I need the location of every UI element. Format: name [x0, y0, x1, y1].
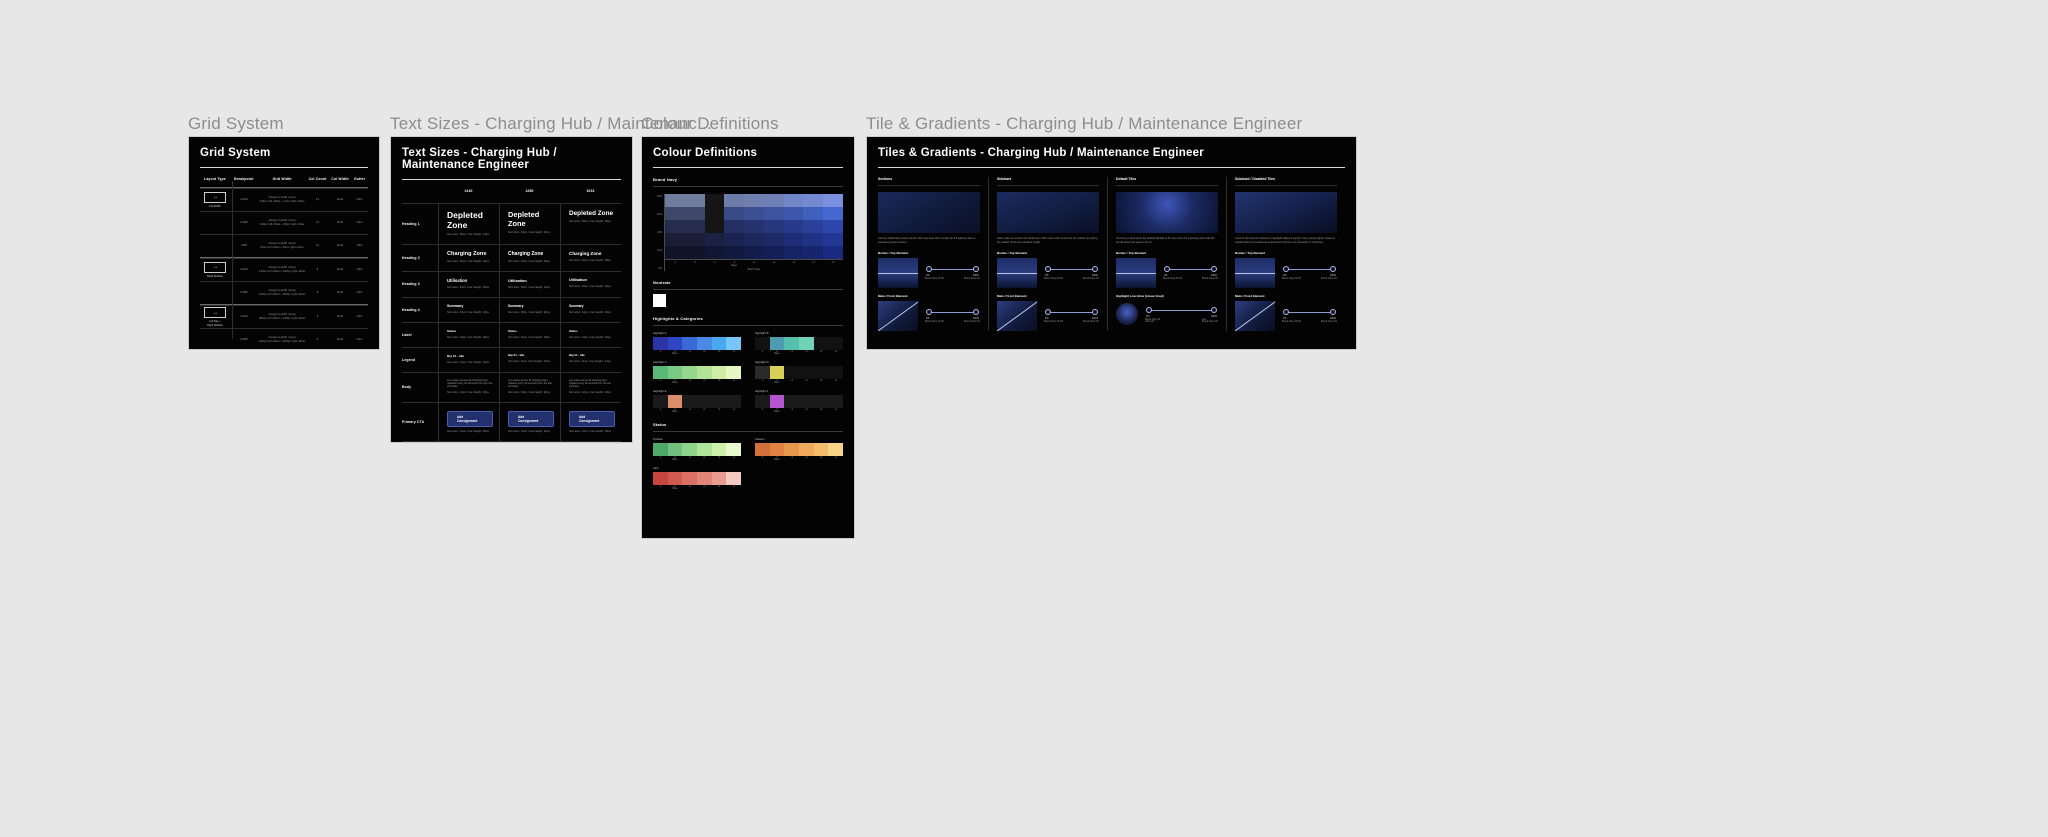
ramp-tick: +1	[682, 351, 697, 355]
y-tick-label: 60%	[657, 213, 662, 216]
text-sample-cell: Depleted Zonefont-size: 34px, line-heigh…	[499, 204, 560, 244]
design-board-canvas: Grid System Grid System Layout TypeBreak…	[0, 0, 2048, 837]
slider-knob-right[interactable]	[1211, 266, 1217, 272]
ramp-ticks: -10Base+1+2+3+4	[653, 351, 741, 355]
grid-col-header: Col Count	[306, 177, 328, 182]
slider-knob-right[interactable]	[973, 266, 979, 272]
ramp-stop	[828, 337, 843, 350]
table-row: ≥1280Viewport width minus120px left offs…	[200, 281, 368, 304]
gradient-row: 0%100%Brand Navy 40 0%Brand Navy 0%	[997, 301, 1099, 331]
text-size-col-header: 1024	[560, 189, 621, 198]
gutter-cell: 20px	[351, 221, 368, 225]
y-tick-label: 20%	[657, 249, 662, 252]
col-width-cell: Fluid	[329, 198, 351, 202]
slider-track[interactable]	[1167, 269, 1214, 271]
title-divider	[878, 167, 1345, 168]
highlight-column-left: Highlight A-10Base+1+2+3+4Highlight C-10…	[653, 326, 741, 413]
text-sample-cell: Bay 04 – Idlefont-size: 11px, line-heigh…	[560, 348, 621, 372]
slider-left-percent: 0%	[1283, 274, 1286, 277]
gradient-swatch	[1116, 258, 1156, 288]
ramp-stop	[799, 366, 814, 379]
ramp-stop	[799, 395, 814, 408]
text-sample: Charging Zone	[569, 251, 615, 256]
slider-track[interactable]	[1048, 312, 1095, 314]
slider-track[interactable]	[1149, 310, 1214, 312]
text-size-col-header	[402, 189, 438, 198]
matrix-cell	[823, 194, 843, 207]
grid-width-cell: Viewport width minus280px left offset + …	[258, 313, 307, 321]
gradient-slider[interactable]: 0%100%Brand Navy 40 0%Brand Navy 0%	[1044, 306, 1099, 326]
ramp-tick: +2	[799, 409, 814, 413]
ramp-name: Highlight F	[755, 389, 843, 393]
ramp-tick: +3	[814, 409, 829, 413]
ramp-tick: +4	[726, 351, 741, 355]
slider-right-stop-name: Brand Navy 0%	[1321, 278, 1337, 280]
matrix-cell	[803, 194, 823, 207]
ramp-block: Highlight B-10Base+1+2+3+4	[755, 331, 843, 355]
ramp-stop	[726, 472, 741, 485]
slider-left-stop-name: Brand Navy 60 0%	[1163, 278, 1182, 280]
ramp-stop	[726, 366, 741, 379]
slider-knob-left[interactable]	[1164, 266, 1170, 272]
slider-track[interactable]	[929, 269, 976, 271]
ramp-stop	[814, 443, 829, 456]
x-tick-label: -2	[705, 261, 725, 267]
matrix-cell	[744, 246, 764, 259]
ramp-tick: +3	[712, 409, 727, 413]
colour-ramp	[653, 366, 741, 379]
ramp-stop	[828, 366, 843, 379]
slider-right-percent: 100%	[1211, 315, 1217, 318]
text-sample: Live status across all charging bays, up…	[447, 379, 493, 388]
ramp-tick: +4	[828, 409, 843, 413]
ramp-stop	[784, 366, 799, 379]
ramp-block: Highlight D-10Base+1+2+3+4	[755, 360, 843, 384]
ramp-tick: -1	[755, 380, 770, 384]
section-divider	[653, 186, 843, 187]
tile-description: Common or all-purpose tile. Radial highl…	[1116, 237, 1218, 245]
ramp-stop	[682, 337, 697, 350]
text-sample: Summary	[569, 304, 615, 308]
ramp-block: Highlight A-10Base+1+2+3+4	[653, 331, 741, 355]
radial-slider[interactable]: 0%100%Brand Navy 60100 LightLowBrand Nav…	[1145, 304, 1218, 324]
ramp-stop	[668, 472, 683, 485]
matrix-cell	[764, 194, 784, 207]
ramp-stop	[755, 443, 770, 456]
text-sample-cell: Add Consignmentfont-size: 14px, line-hei…	[438, 403, 499, 441]
ramp-tick: +2	[697, 409, 712, 413]
gradient-axis-line	[997, 301, 1037, 331]
primary-cta-button[interactable]: Add Consignment	[569, 411, 615, 427]
text-sample: Live status across all charging bays, up…	[569, 379, 615, 388]
col-count-cell: 8	[306, 291, 328, 295]
tile-description: Same value as sections but darkened to f…	[997, 237, 1099, 245]
breakpoint-cell: ≥1440	[230, 198, 258, 202]
text-sample-spec: font-size: 14px, line-height: 20px	[569, 311, 615, 315]
table-row: ↔Right Sidebar≥1440Viewport width minus1…	[200, 258, 368, 281]
matrix-cell	[665, 207, 685, 220]
tile-column-heading: Subdued / Disabled Tiles	[1235, 177, 1337, 186]
section-divider	[653, 289, 843, 290]
slider-knob-left[interactable]	[1045, 309, 1051, 315]
colour-ramp	[755, 395, 843, 408]
ramp-stop	[712, 472, 727, 485]
arrows-horizontal-icon: ↔	[204, 307, 226, 318]
ramp-tick: +2	[697, 486, 712, 490]
brand-navy-matrix: 80%60%40%20%0%-4-3-2-1Base+1+2+3+4+5Bran…	[653, 194, 843, 271]
text-sample-spec: font-size: 12px, line-height: 18px	[569, 391, 615, 395]
colour-section: Highlights & CategoriesHighlight A-10Bas…	[653, 316, 843, 413]
text-sample-spec: font-size: 30px, line-height: 36px	[569, 220, 615, 224]
text-sample: Bay 04 – Idle	[508, 354, 554, 357]
gradient-label: Border / Top Element	[1235, 251, 1337, 255]
slider-right-stop-name: Brand Navy 0%	[1083, 278, 1099, 280]
ramp-tick: +1	[784, 351, 799, 355]
text-sample-cell: Utilisationfont-size: 16px, line-height:…	[560, 272, 621, 297]
slider-left-stop-name: Brand Navy 40 0%	[1282, 321, 1301, 323]
ramp-block: Positive-10Base+1+2+3+4	[653, 437, 741, 461]
slider-knob-left[interactable]	[1045, 266, 1051, 272]
ramp-block: Highlight E-10Base+1+2+3+4	[653, 389, 741, 413]
colour-ramp	[755, 337, 843, 350]
grid-col-header: Gutter	[351, 177, 368, 182]
text-sample-cell: Utilisationfont-size: 18px, line-height:…	[499, 272, 560, 297]
text-sample: Summary	[508, 304, 554, 308]
ramp-tick: +3	[712, 486, 727, 490]
slider-right-percent: 100%	[1211, 274, 1217, 277]
primary-cta-button[interactable]: Add Consignment	[447, 411, 493, 427]
text-sample-spec: font-size: 16px, line-height: 22px	[569, 285, 615, 289]
arrows-horizontal-icon: ↔	[204, 262, 226, 273]
ramp-block: Highlight F-10Base+1+2+3+4	[755, 389, 843, 413]
ramp-ticks: -10Base+1+2+3+4	[755, 457, 843, 461]
slider-track[interactable]	[1286, 312, 1333, 314]
status-columns: Positive-10Base+1+2+3+4Alert-10Base+1+2+…	[653, 432, 843, 490]
matrix-cell	[665, 246, 685, 259]
ramp-stop	[697, 443, 712, 456]
matrix-cell	[724, 246, 744, 259]
breakpoint-cell: <960	[230, 244, 258, 248]
matrix-cell	[705, 194, 725, 207]
text-sample-spec: font-size: 24px, line-height: 30px	[508, 260, 554, 264]
colour-ramp	[653, 472, 741, 485]
ramp-ticks: -10Base+1+2+3+4	[653, 486, 741, 490]
ramp-block: Highlight C-10Base+1+2+3+4	[653, 360, 741, 384]
ramp-tick: -1	[755, 457, 770, 461]
tile-preview	[1116, 192, 1218, 233]
matrix-cell	[784, 220, 804, 233]
matrix-cell	[823, 207, 843, 220]
gradient-label: Main / Front Element	[997, 294, 1099, 298]
slider-left-percent: 0%	[926, 274, 929, 277]
grid-row-group: ↔Right Sidebar≥1440Viewport width minus1…	[200, 257, 368, 304]
ramp-name: Highlight A	[653, 331, 741, 335]
frame-caption-colour-definitions[interactable]: Colour Definitions	[641, 114, 779, 134]
gradient-axis-line	[1235, 301, 1275, 331]
colour-ramp	[755, 443, 843, 456]
ramp-stop	[682, 443, 697, 456]
highlight-column-right: Highlight B-10Base+1+2+3+4Highlight D-10…	[755, 326, 843, 413]
ramp-tick: +1	[784, 457, 799, 461]
colour-ramp	[653, 443, 741, 456]
frame-tiles-gradients[interactable]: Tiles & Gradients - Charging Hub / Maint…	[866, 136, 1357, 350]
text-sample-cell: Charging Zonefont-size: 24px, line-heigh…	[499, 245, 560, 271]
ramp-ticks: -10Base+1+2+3+4	[653, 409, 741, 413]
slider-knob-right[interactable]	[1330, 309, 1336, 315]
ramp-stop	[712, 395, 727, 408]
status-column-right: Caution-10Base+1+2+3+4	[755, 432, 843, 490]
tile-preview	[1235, 192, 1337, 233]
matrix-cell	[685, 194, 705, 207]
matrix-cell	[744, 194, 764, 207]
gradient-label: Border / Top Element	[997, 251, 1099, 255]
ramp-name: Alert	[653, 466, 741, 470]
x-tick-label: -3	[685, 261, 705, 267]
grid-row-group: ↔Full Width≥1440Viewport width minus144p…	[200, 187, 368, 257]
matrix-cell	[784, 194, 804, 207]
slider-left-percent: 0%	[926, 317, 929, 320]
gradient-slider[interactable]: 0%100%Brand Navy 40 0%Brand Navy 0%	[925, 306, 980, 326]
x-tick-label: +1	[744, 261, 764, 267]
text-sample-cell: Bay 04 – Idlefont-size: 11px, line-heigh…	[499, 348, 560, 372]
grid-table-body: ↔Full Width≥1440Viewport width minus144p…	[200, 187, 368, 350]
text-sample-cell: Depleted Zonefont-size: 30px, line-heigh…	[560, 204, 621, 244]
ramp-stop	[682, 395, 697, 408]
ramp-tick: 0Base	[668, 380, 683, 384]
ramp-stop	[697, 472, 712, 485]
colour-section-heading: Status	[653, 422, 843, 427]
slider-track[interactable]	[929, 312, 976, 314]
arrows-horizontal-icon: ↔	[204, 192, 226, 203]
slider-knob-right[interactable]	[1330, 266, 1336, 272]
slider-knob-right[interactable]	[1211, 307, 1217, 313]
table-row: LegendBay 04 – Idlefont-size: 12px, line…	[402, 347, 621, 372]
col-count-cell: 8	[306, 268, 328, 272]
matrix-cell	[803, 246, 823, 259]
text-style-name: Legend	[402, 348, 438, 372]
ramp-name: Highlight C	[653, 360, 741, 364]
text-style-name: Heading 1	[402, 204, 438, 244]
gradient-row: 0%100%Brand Navy 60 0%Brand Navy 0%	[1116, 258, 1218, 288]
slider-knob-right[interactable]	[1092, 266, 1098, 272]
ramp-tick: +4	[726, 409, 741, 413]
gutter-cell: 24px	[351, 315, 368, 319]
breakpoint-cell: ≥1280	[230, 291, 258, 295]
ramp-tick: +4	[828, 457, 843, 461]
gradient-swatch	[997, 301, 1037, 331]
text-size-col-header: 1440	[438, 189, 499, 198]
slider-knob-left[interactable]	[926, 309, 932, 315]
text-sample-cell: Bay 04 – Idlefont-size: 12px, line-heigh…	[438, 348, 499, 372]
gradient-axis-line	[997, 273, 1037, 274]
ramp-tick: +1	[682, 457, 697, 461]
ramp-tick: +4	[726, 457, 741, 461]
frame-text-sizes[interactable]: Text Sizes - Charging Hub / Maintenance …	[390, 136, 633, 443]
table-row: ≥1280Viewport width minus240px left offs…	[200, 328, 368, 350]
tile-column-heading: Sections	[878, 177, 980, 186]
ramp-stop	[668, 395, 683, 408]
grid-layout-icon-cell: ↔Right Sidebar	[200, 262, 230, 278]
grid-width-cell: Viewport width minus240px left offset + …	[258, 336, 307, 344]
ramp-tick: +1	[682, 486, 697, 490]
slider-right-stop-name: LowBrand Navy 0%	[1202, 319, 1218, 323]
text-sizes-body: Heading 1Depleted Zonefont-size: 38px, l…	[402, 203, 621, 443]
slider-knob-left[interactable]	[1146, 307, 1152, 313]
text-sample-spec: font-size: 34px, line-height: 40px	[508, 231, 554, 235]
colour-ramp	[755, 366, 843, 379]
gradient-row: 0%100%Brand Navy 40 0%Brand Navy 0%	[1235, 301, 1337, 331]
ramp-name: Highlight E	[653, 389, 741, 393]
text-sample-spec: font-size: 16px, line-height: 22px	[447, 311, 493, 315]
text-style-name: Secondary CTA	[402, 442, 438, 443]
ramp-block: Alert-10Base+1+2+3+4	[653, 466, 741, 490]
slider-left-stop-name: Brand Navy 60 0%	[1044, 278, 1063, 280]
x-tick-label: -1Base	[724, 261, 744, 267]
slider-left-stop-name: Brand Navy 60100 Light	[1145, 319, 1160, 323]
slider-knob-right[interactable]	[973, 309, 979, 315]
tile-column: Subdued / Disabled TilesUsed for tiles t…	[1226, 177, 1345, 331]
ramp-stop	[653, 366, 668, 379]
matrix-y-axis: 80%60%40%20%0%	[653, 194, 665, 271]
text-sample-cell: Live status across all charging bays, up…	[560, 373, 621, 402]
slider-knob-left[interactable]	[1283, 309, 1289, 315]
slider-track[interactable]	[1048, 269, 1095, 271]
text-sample-cell: Summaryfont-size: 14px, line-height: 20p…	[560, 298, 621, 322]
matrix-cell	[724, 194, 744, 207]
text-style-name: Heading 3	[402, 272, 438, 297]
ramp-stop	[770, 337, 785, 350]
frame-grid-system[interactable]: Grid System Layout TypeBreakpointGrid Wi…	[188, 136, 380, 350]
ramp-tick: 0Base	[770, 351, 785, 355]
ramp-stop	[814, 366, 829, 379]
slider-right-stop-name: Brand Navy 0%	[964, 278, 980, 280]
matrix-cell	[685, 246, 705, 259]
ramp-stop	[814, 395, 829, 408]
text-sample-spec: font-size: 13px, line-height: 20px	[508, 430, 554, 434]
ramp-stop	[712, 366, 727, 379]
col-count-cell: 6	[306, 315, 328, 319]
ramp-tick: +3	[814, 351, 829, 355]
colour-section: Brand Navy80%60%40%20%0%-4-3-2-1Base+1+2…	[653, 177, 843, 271]
slider-knob-left[interactable]	[1283, 266, 1289, 272]
grid-table-header: Layout TypeBreakpointGrid WidthCol Count…	[200, 177, 368, 187]
table-row: ↔Left Nav +Right Sidebar≥1440Viewport wi…	[200, 305, 368, 328]
neutral-swatch	[653, 294, 666, 307]
grid-width-cell: Viewport width minus144px left offset + …	[258, 196, 307, 204]
matrix-cell	[724, 207, 744, 220]
ramp-stop	[770, 366, 785, 379]
text-sample-spec: font-size: 12px, line-height: 16px	[569, 336, 615, 340]
highlight-columns: Highlight A-10Base+1+2+3+4Highlight C-10…	[653, 326, 843, 413]
ramp-ticks: -10Base+1+2+3+4	[755, 409, 843, 413]
ramp-stop	[755, 366, 770, 379]
text-style-name: Heading 4	[402, 298, 438, 322]
gradient-slider[interactable]: 0%100%Brand Navy 60 0%Brand Navy 0%	[1044, 263, 1099, 283]
frame-caption-grid-system[interactable]: Grid System	[188, 114, 284, 134]
text-sample-cell: Statusfont-size: 12px, line-height: 18px	[499, 323, 560, 347]
gradient-slider[interactable]: 0%100%Brand Navy 40 0%Brand Navy 0%	[1282, 306, 1337, 326]
matrix-cell	[724, 220, 744, 233]
text-sample: Utilisation	[447, 278, 493, 283]
gradient-slider[interactable]: 0%100%Brand Navy 60 0%Brand Navy 0%	[925, 263, 980, 283]
ramp-tick: +2	[799, 351, 814, 355]
x-tick-label: +5	[823, 261, 843, 267]
ramp-ticks: -10Base+1+2+3+4	[755, 380, 843, 384]
text-sample-spec: font-size: 12px, line-height: 18px	[508, 336, 554, 340]
colour-section-heading: Neutrals	[653, 280, 843, 285]
matrix-cell	[705, 207, 725, 220]
primary-cta-button[interactable]: Add Consignment	[508, 411, 554, 427]
ramp-stop	[712, 443, 727, 456]
slider-knob-left[interactable]	[926, 266, 932, 272]
gradient-row: 0%100%Brand Navy 60 0%Brand Navy 0%	[1235, 258, 1337, 288]
text-sample-spec: font-size: 26px, line-height: 32px	[447, 260, 493, 264]
col-width-cell: Fluid	[329, 221, 351, 225]
matrix-body: -4-3-2-1Base+1+2+3+4+5Brand Navy	[665, 194, 843, 271]
ramp-tick: -1	[755, 351, 770, 355]
grid-layout-icon-cell: ↔Left Nav +Right Sidebar	[200, 307, 230, 327]
slider-left-stop-name: Brand Navy 40 0%	[1044, 321, 1063, 323]
ramp-stop	[697, 337, 712, 350]
text-sample-cell: View report ›font-size: 14px, line-heigh…	[438, 442, 499, 443]
x-tick-label: -4	[665, 261, 685, 267]
ramp-stop	[799, 337, 814, 350]
text-sample-spec: font-size: 13px, line-height: 20px	[508, 391, 554, 395]
colour-section: StatusPositive-10Base+1+2+3+4Alert-10Bas…	[653, 422, 843, 490]
ramp-ticks: -10Base+1+2+3+4	[653, 457, 741, 461]
table-row: Heading 3Utilisationfont-size: 20px, lin…	[402, 271, 621, 297]
text-sample-cell: Summaryfont-size: 16px, line-height: 22p…	[438, 298, 499, 322]
matrix-cell	[705, 233, 725, 246]
ramp-tick: 0Base	[770, 409, 785, 413]
gradient-slider[interactable]: 0%100%Brand Navy 60 0%Brand Navy 0%	[1282, 263, 1337, 283]
matrix-cell	[665, 220, 685, 233]
ramp-stop	[726, 443, 741, 456]
ramp-stop	[653, 337, 668, 350]
grid-width-cell: Viewport width minus144px left offset + …	[258, 266, 307, 274]
gradient-label: Main / Front Element	[1235, 294, 1337, 298]
grid-col-header: Grid Width	[258, 177, 307, 182]
grid-layout-label: Left Nav +Right Sidebar	[207, 320, 223, 327]
matrix-cell	[705, 220, 725, 233]
text-sample: Utilisation	[508, 278, 554, 283]
y-tick-label: 0%	[659, 267, 662, 270]
ramp-stop	[668, 366, 683, 379]
ramp-tick: 0Base	[668, 486, 683, 490]
text-sample-spec: font-size: 38px, line-height: 44px	[447, 233, 493, 237]
ramp-stop	[828, 443, 843, 456]
ramp-tick: +1	[784, 409, 799, 413]
ramp-name: Caution	[755, 437, 843, 441]
slider-knob-right[interactable]	[1092, 309, 1098, 315]
matrix-cell	[685, 220, 705, 233]
gradient-slider[interactable]: 0%100%Brand Navy 60 0%Brand Navy 0%	[1163, 263, 1218, 283]
matrix-cell	[724, 233, 744, 246]
gradient-label: Main / Front Element	[878, 294, 980, 298]
frame-colour-definitions[interactable]: Colour Definitions Brand Navy80%60%40%20…	[641, 136, 855, 539]
table-row: ≥1280Viewport width minus120px left offs…	[200, 211, 368, 234]
matrix-cell	[705, 246, 725, 259]
breakpoint-cell: ≥1440	[230, 315, 258, 319]
frame-caption-tiles-gradients[interactable]: Tile & Gradients - Charging Hub / Mainte…	[866, 114, 1302, 134]
slider-track[interactable]	[1286, 269, 1333, 271]
text-sample-cell: Charging Zonefont-size: 22px, line-heigh…	[560, 245, 621, 271]
slider-left-percent: 0%	[1146, 315, 1149, 318]
text-sample-cell: Add Consignmentfont-size: 13px, line-hei…	[499, 403, 560, 441]
text-sample: Bay 04 – Idle	[569, 354, 615, 357]
status-column-left: Positive-10Base+1+2+3+4Alert-10Base+1+2+…	[653, 432, 741, 490]
ramp-tick: +4	[726, 380, 741, 384]
